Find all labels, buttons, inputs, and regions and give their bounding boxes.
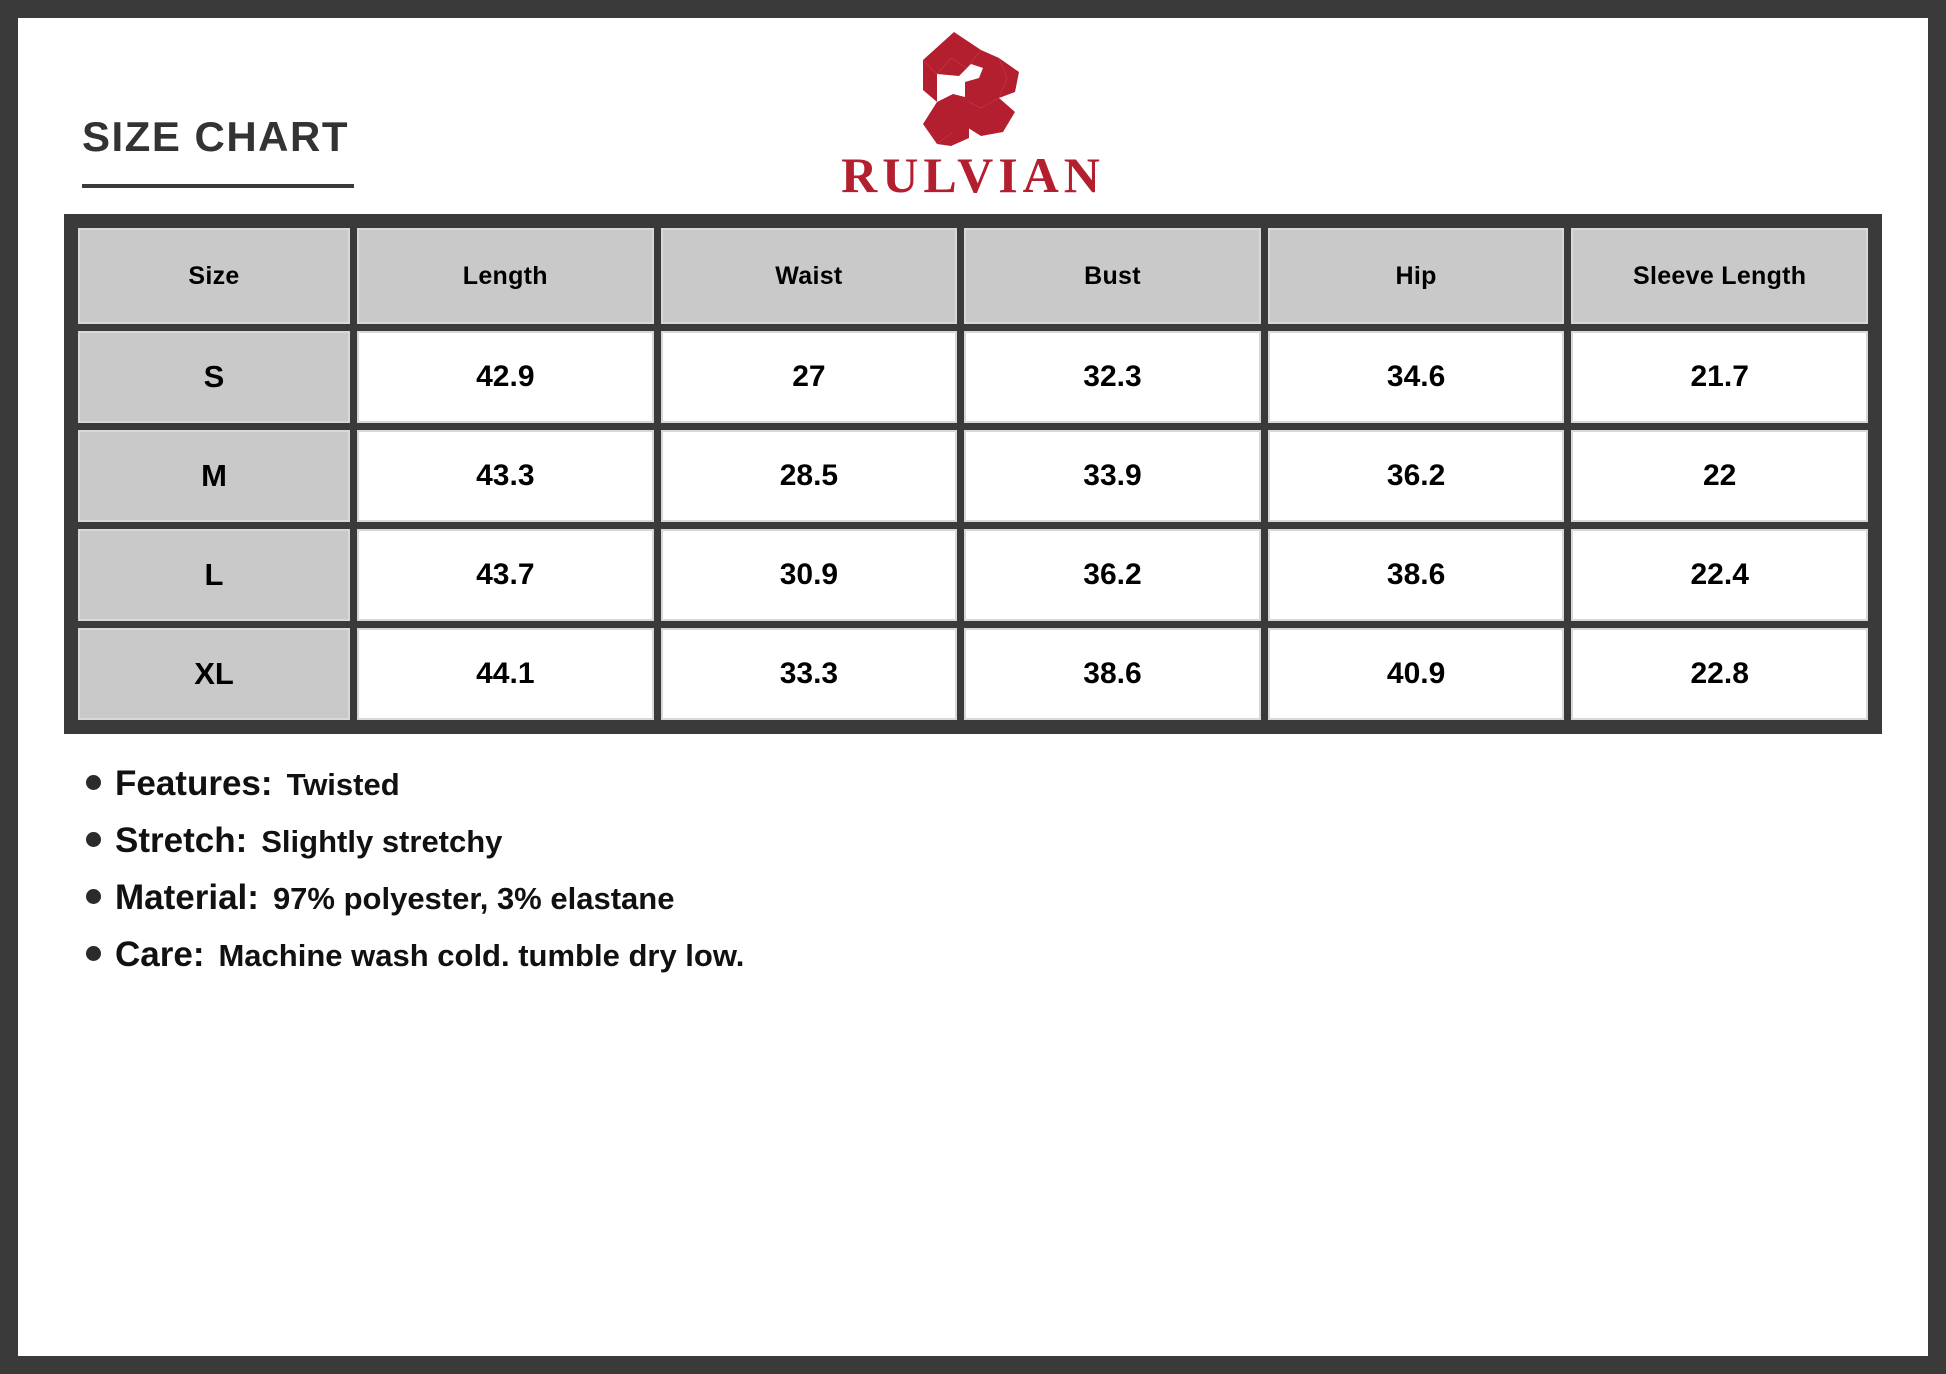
cell-hip: 38.6 <box>1268 529 1565 621</box>
cell-hip: 34.6 <box>1268 331 1565 423</box>
note-value-material: 97% polyester, 3% elastane <box>273 881 675 917</box>
note-value-care: Machine wash cold. tumble dry low. <box>218 938 744 974</box>
cell-hip: 36.2 <box>1268 430 1565 522</box>
rulvian-r-monogram-icon <box>907 28 1039 146</box>
table-row: M 43.3 28.5 33.9 36.2 22 <box>78 430 1868 522</box>
column-header-bust: Bust <box>964 228 1261 324</box>
column-header-length: Length <box>357 228 654 324</box>
page-content: SIZE CHART RULVIAN <box>18 18 1928 1356</box>
column-header-hip: Hip <box>1268 228 1565 324</box>
cell-bust: 38.6 <box>964 628 1261 720</box>
bullet-icon <box>86 889 101 904</box>
size-chart-page: SIZE CHART RULVIAN <box>0 0 1946 1374</box>
note-label-stretch: Stretch: <box>115 821 247 861</box>
cell-length: 43.3 <box>357 430 654 522</box>
cell-bust: 32.3 <box>964 331 1261 423</box>
column-header-sleeve-length: Sleeve Length <box>1571 228 1868 324</box>
note-label-material: Material: <box>115 878 259 918</box>
table-row: S 42.9 27 32.3 34.6 21.7 <box>78 331 1868 423</box>
list-item: Features: Twisted <box>86 764 1886 804</box>
header: SIZE CHART RULVIAN <box>60 18 1886 214</box>
cell-bust: 33.9 <box>964 430 1261 522</box>
note-label-care: Care: <box>115 935 204 975</box>
column-header-size: Size <box>78 228 350 324</box>
cell-waist: 30.9 <box>661 529 958 621</box>
cell-length: 43.7 <box>357 529 654 621</box>
bullet-icon <box>86 775 101 790</box>
cell-waist: 28.5 <box>661 430 958 522</box>
size-table-container: Size Length Waist Bust Hip Sleeve Length… <box>64 214 1882 734</box>
product-notes-list: Features: Twisted Stretch: Slightly stre… <box>86 764 1886 975</box>
cell-waist: 27 <box>661 331 958 423</box>
bullet-icon <box>86 832 101 847</box>
cell-length: 44.1 <box>357 628 654 720</box>
brand-lockup: RULVIAN <box>60 28 1886 200</box>
size-table: Size Length Waist Bust Hip Sleeve Length… <box>71 221 1875 727</box>
list-item: Stretch: Slightly stretchy <box>86 821 1886 861</box>
bullet-icon <box>86 946 101 961</box>
cell-size: XL <box>78 628 350 720</box>
note-value-stretch: Slightly stretchy <box>261 824 502 860</box>
cell-sleeve-length: 22.8 <box>1571 628 1868 720</box>
cell-hip: 40.9 <box>1268 628 1565 720</box>
cell-bust: 36.2 <box>964 529 1261 621</box>
cell-size: M <box>78 430 350 522</box>
cell-waist: 33.3 <box>661 628 958 720</box>
list-item: Material: 97% polyester, 3% elastane <box>86 878 1886 918</box>
cell-sleeve-length: 22 <box>1571 430 1868 522</box>
table-header: Size Length Waist Bust Hip Sleeve Length <box>78 228 1868 324</box>
brand-wordmark: RULVIAN <box>841 150 1105 200</box>
table-body: S 42.9 27 32.3 34.6 21.7 M 43.3 28.5 33.… <box>78 331 1868 720</box>
cell-size: L <box>78 529 350 621</box>
table-row: XL 44.1 33.3 38.6 40.9 22.8 <box>78 628 1868 720</box>
cell-length: 42.9 <box>357 331 654 423</box>
table-row: L 43.7 30.9 36.2 38.6 22.4 <box>78 529 1868 621</box>
header-row: Size Length Waist Bust Hip Sleeve Length <box>78 228 1868 324</box>
cell-sleeve-length: 21.7 <box>1571 331 1868 423</box>
list-item: Care: Machine wash cold. tumble dry low. <box>86 935 1886 975</box>
cell-size: S <box>78 331 350 423</box>
column-header-waist: Waist <box>661 228 958 324</box>
cell-sleeve-length: 22.4 <box>1571 529 1868 621</box>
note-value-features: Twisted <box>287 767 400 803</box>
note-label-features: Features: <box>115 764 273 804</box>
